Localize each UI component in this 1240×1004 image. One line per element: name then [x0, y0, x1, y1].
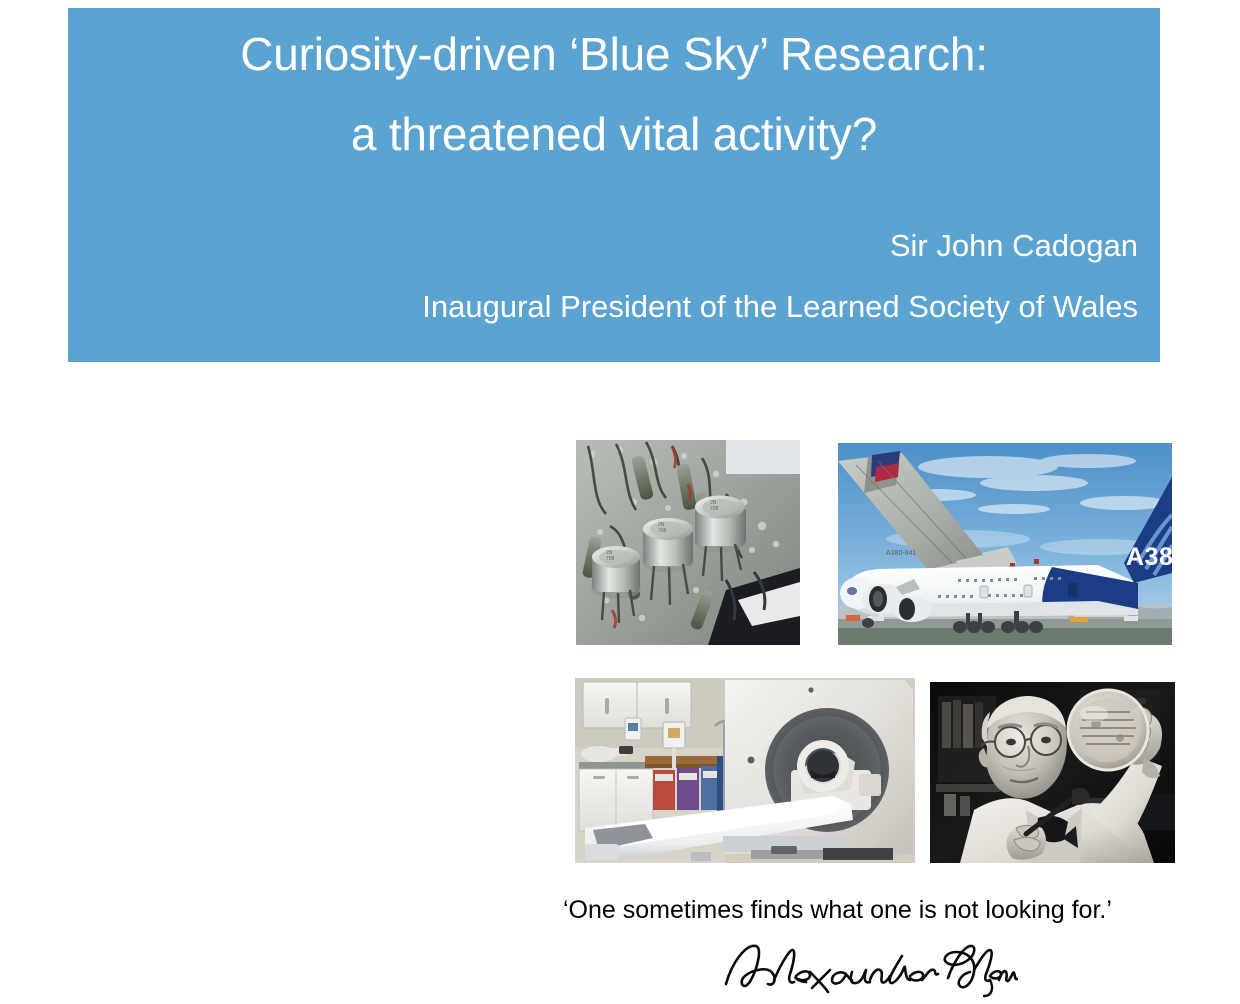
fleming-quote: ‘One sometimes finds what one is not loo…: [563, 896, 1173, 925]
alexander-fleming-signature: [718, 936, 1018, 998]
slide-title-line-2: a threatened vital activity?: [90, 106, 1138, 162]
svg-text:708: 708: [606, 556, 615, 562]
photo-alexander-fleming-portrait: [930, 682, 1175, 863]
photo-airbus-a380-aircraft: A380-841: [838, 443, 1172, 645]
title-banner: Curiosity-driven ‘Blue Sky’ Research: a …: [68, 8, 1160, 362]
svg-text:708: 708: [658, 528, 667, 534]
slide-title-line-1: Curiosity-driven ‘Blue Sky’ Research:: [90, 26, 1138, 82]
photo-mri-scanner-room: [575, 678, 915, 863]
svg-text:A380: A380: [1126, 543, 1172, 571]
svg-text:A380-841: A380-841: [886, 550, 916, 557]
photo-circuit-board-transistors: 2N708 2N708 2N708: [576, 440, 800, 645]
presenter-role: Inaugural President of the Learned Socie…: [90, 287, 1138, 327]
svg-text:708: 708: [710, 506, 719, 512]
presenter-name: Sir John Cadogan: [90, 226, 1138, 266]
